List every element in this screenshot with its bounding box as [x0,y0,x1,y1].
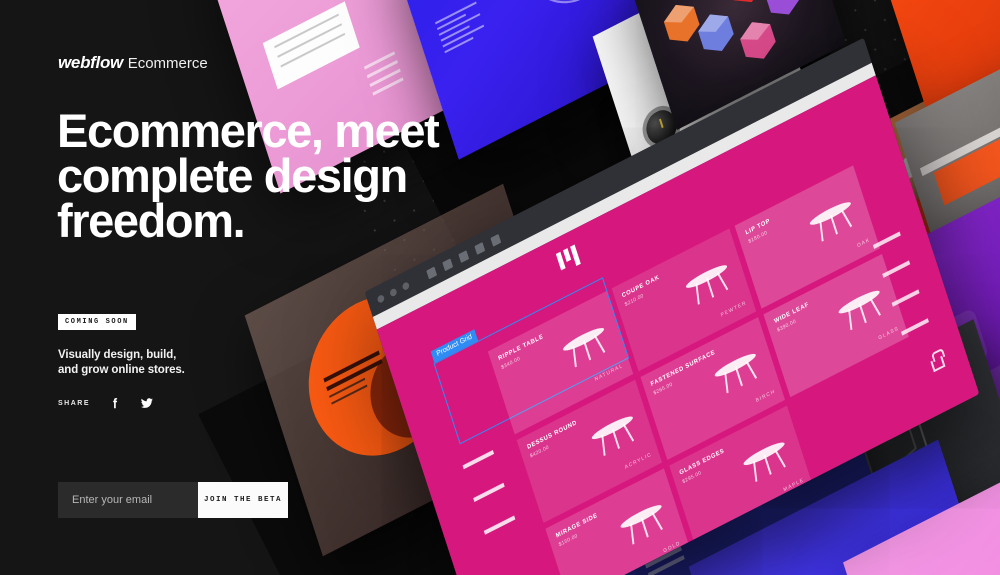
watch-dial-icon [513,0,624,20]
hero-stage: 34 ↗ [0,0,1000,575]
subtext-line-2: and grow online stores. [58,364,185,376]
headline-line-3: freedom. [57,194,244,247]
hero-subtext: Visually design, build, and grow online … [58,348,185,378]
window-maximize-icon [401,281,409,291]
gem-icon [734,13,782,68]
twitter-icon[interactable] [140,396,154,410]
window-close-icon [377,293,385,303]
selection-label: Product Grid [431,329,479,363]
logo-wordmark: webflow [58,53,123,72]
share-label: SHARE [58,400,90,407]
beta-signup-form: JOIN THE BETA [58,482,288,518]
gem-icon [759,0,807,24]
share-row: SHARE [58,396,154,410]
blue-text-lines [435,2,487,58]
facebook-icon[interactable] [108,396,122,410]
pink-card [263,1,360,89]
logo-product-name: Ecommerce [128,55,208,72]
status-badge: COMING SOON [58,314,136,330]
store-logo-icon [556,244,581,273]
gem-icon [692,5,740,60]
webflow-logo[interactable]: webflow Ecommerce [58,54,208,71]
store-nav-left [463,450,525,564]
join-beta-button[interactable]: JOIN THE BETA [198,482,288,518]
page-title: Ecommerce, meet complete design freedom. [57,108,457,243]
email-field[interactable] [58,482,198,518]
shopping-cart-icon [930,356,945,372]
pink-lines [364,51,406,101]
gem-icon [658,0,706,51]
window-minimize-icon [389,287,397,297]
gem-icon [679,0,727,6]
subtext-line-1: Visually design, build, [58,349,176,361]
gem-icon [722,0,770,11]
